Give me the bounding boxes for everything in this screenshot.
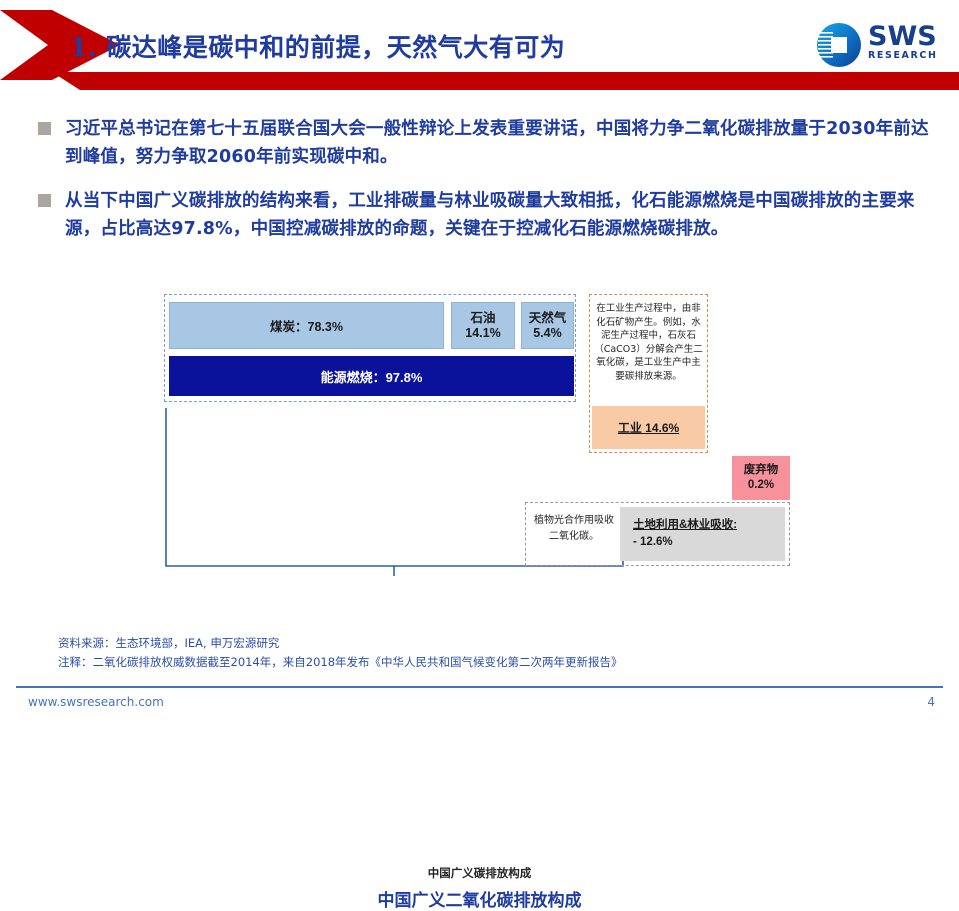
footnote-line: 注释：二氧化碳排放权威数据截至2014年，来自2018年发布《中华人民共和国气候… xyxy=(58,653,623,672)
bar-oil-value: 14.1% xyxy=(465,326,500,341)
bar-natural-gas-value: 5.4% xyxy=(529,326,567,341)
bullet-square-icon xyxy=(38,194,51,207)
land-use-note-text: 植物光合作用吸收二氧化碳。 xyxy=(532,513,616,545)
bullet-item: 从当下中国广义碳排放的结构来看，工业排碳量与林业吸碳量大致相抵，化石能源燃烧是中… xyxy=(38,187,938,243)
bullet-list: 习近平总书记在第七十五届联合国大会一般性辩论上发表重要讲话，中国将力争二氧化碳排… xyxy=(38,115,938,259)
logo-primary-text: SWS xyxy=(868,23,938,50)
sws-logo-text: SWS RESEARCH xyxy=(868,23,938,62)
page-title: 1. 碳达峰是碳中和的前提，天然气大有可为 xyxy=(70,28,565,64)
bar-land-use-label: 土地利用&林业吸收: xyxy=(633,517,785,534)
footer-page-number: 4 xyxy=(927,695,935,709)
bar-oil-label: 石油 xyxy=(465,311,500,326)
source-notes: 资料来源：生态环境部，IEA, 申万宏源研究 注释：二氧化碳排放权威数据截至20… xyxy=(58,634,623,672)
footer-divider xyxy=(16,686,943,688)
bullet-square-icon xyxy=(38,122,51,135)
footer-website-link[interactable]: www.swsresearch.com xyxy=(28,695,164,709)
source-line: 资料来源：生态环境部，IEA, 申万宏源研究 xyxy=(58,634,623,653)
bar-natural-gas: 天然气 5.4% xyxy=(521,302,574,349)
bar-land-use-forestry: 土地利用&林业吸收: - 12.6% xyxy=(620,507,785,561)
slide-header: 1. 碳达峰是碳中和的前提，天然气大有可为 xyxy=(0,0,959,93)
bar-waste-value: 0.2% xyxy=(744,478,779,493)
header-red-bar-decoration xyxy=(52,72,959,90)
bar-industry: 工业 14.6% xyxy=(592,406,705,449)
bar-industry-label: 工业 14.6% xyxy=(618,419,679,436)
bar-land-use-value: - 12.6% xyxy=(633,534,785,551)
emissions-diagram: 煤炭：78.3% 石油 14.1% 天然气 5.4% 能源燃烧：97.8% 在工… xyxy=(0,288,959,618)
bar-waste-label: 废弃物 xyxy=(744,463,779,478)
diagram-title: 中国广义二氧化碳排放构成 xyxy=(0,886,959,911)
bullet-item: 习近平总书记在第七十五届联合国大会一般性辩论上发表重要讲话，中国将力争二氧化碳排… xyxy=(38,115,938,171)
bullet-text: 习近平总书记在第七十五届联合国大会一般性辩论上发表重要讲话，中国将力争二氧化碳排… xyxy=(65,115,938,171)
bar-natural-gas-label: 天然气 xyxy=(529,311,567,326)
diagram-subtitle: 中国广义碳排放构成 xyxy=(0,865,959,881)
bullet-text: 从当下中国广义碳排放的结构来看，工业排碳量与林业吸碳量大致相抵，化石能源燃烧是中… xyxy=(65,187,938,243)
sws-research-logo: SWS RESEARCH xyxy=(816,22,951,68)
industry-note-text: 在工业生产过程中，由非化石矿物产生。例如，水泥生产过程中，石灰石（CaCO3）分… xyxy=(592,298,705,398)
logo-secondary-text: RESEARCH xyxy=(868,50,938,62)
bar-energy-combustion: 能源燃烧：97.8% xyxy=(169,356,574,396)
bar-coal: 煤炭：78.3% xyxy=(169,302,444,349)
sws-logo-mark-icon xyxy=(816,22,862,68)
bar-waste: 废弃物 0.2% xyxy=(732,456,790,500)
slide-footer: www.swsresearch.com 4 xyxy=(0,686,959,719)
bar-oil: 石油 14.1% xyxy=(451,302,515,349)
